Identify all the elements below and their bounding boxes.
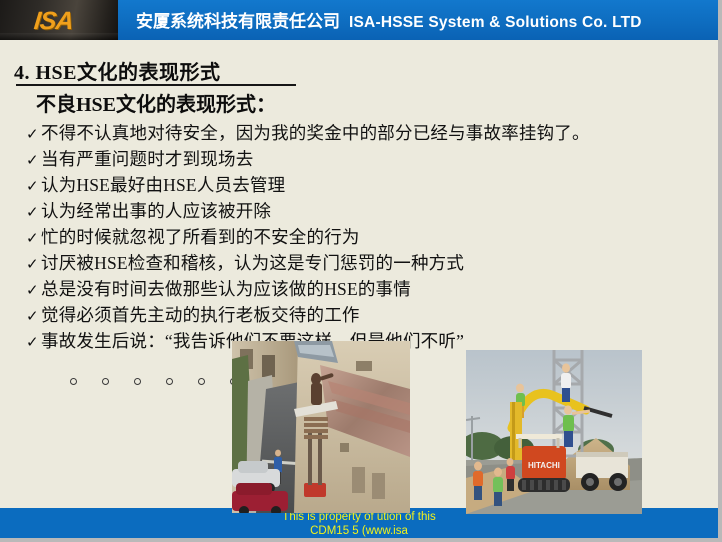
list-item-label: 忙的时候就忽视了所看到的不安全的行为 [41,224,360,249]
list-item: ✓ 忙的时候就忽视了所看到的不安全的行为 [26,224,716,250]
photo-street-unsafe-platform [232,341,410,513]
list-item: ✓ 认为HSE最好由HSE人员去管理 [26,172,716,198]
checkmark-icon: ✓ [26,153,41,168]
checkmark-icon: ✓ [26,309,41,324]
photo-scaffold-image: HITACHI [466,350,642,514]
logo-panel: ISA [0,0,118,40]
checkmark-icon: ✓ [26,257,41,272]
slide-canvas: ISA 安厦系统科技有限责任公司 ISA-HSSE System & Solut… [0,0,722,542]
list-item-label: 不得不认真地对待安全，因为我的奖金中的部分已经与事故率挂钩了。 [41,120,590,145]
header-title-cn: 安厦系统科技有限责任公司 [136,12,340,31]
header-title: 安厦系统科技有限责任公司 ISA-HSSE System & Solutions… [136,7,642,32]
list-item-label: 当有严重问题时才到现场去 [41,146,253,171]
list-item-label: 讨厌被HSE检查和稽核，认为这是专门惩罚的一种方式 [41,250,464,275]
svg-text:HITACHI: HITACHI [528,461,560,470]
circle-bullet-icon [166,378,173,385]
circle-bullet-icon [70,378,77,385]
list-item-label: 觉得必须首先主动的执行老板交待的工作 [41,302,360,327]
footer-line-2: CDM15 5 (www.isa [0,525,718,537]
title-underline [16,84,296,86]
page-title: 4. HSE文化的表现形式 [14,56,221,85]
list-item-label: 认为经常出事的人应该被开除 [41,198,271,223]
checkmark-icon: ✓ [26,283,41,298]
subtitle: 不良HSE文化的表现形式： [36,88,276,117]
photo-street-image [232,341,410,513]
list-item: ✓ 当有严重问题时才到现场去 [26,146,716,172]
list-item: ✓ 讨厌被HSE检查和稽核，认为这是专门惩罚的一种方式 [26,250,716,276]
list-item: ✓ 认为经常出事的人应该被开除 [26,198,716,224]
isa-logo-icon: ISA [32,7,74,36]
list-item-label: 总是没有时间去做那些认为应该做的HSE的事情 [41,276,411,301]
list-item: ✓ 觉得必须首先主动的执行老板交待的工作 [26,302,716,328]
checkmark-icon: ✓ [26,335,41,350]
checkmark-icon: ✓ [26,179,41,194]
bullet-list: ✓ 不得不认真地对待安全，因为我的奖金中的部分已经与事故率挂钩了。 ✓ 当有严重… [26,120,716,354]
checkmark-icon: ✓ [26,205,41,220]
list-item-label: 认为HSE最好由HSE人员去管理 [41,172,285,197]
list-item: ✓ 总是没有时间去做那些认为应该做的HSE的事情 [26,276,716,302]
list-item: ✓ 不得不认真地对待安全，因为我的奖金中的部分已经与事故率挂钩了。 [26,120,716,146]
circle-bullet-icon [134,378,141,385]
slide-header: ISA 安厦系统科技有限责任公司 ISA-HSSE System & Solut… [0,0,718,40]
circle-bullet-icon [198,378,205,385]
header-title-bar: 安厦系统科技有限责任公司 ISA-HSSE System & Solutions… [118,0,718,40]
sub-bullet-dots [70,378,237,385]
header-title-en: ISA-HSSE System & Solutions Co. LTD [349,14,642,31]
checkmark-icon: ✓ [26,127,41,142]
circle-bullet-icon [102,378,109,385]
checkmark-icon: ✓ [26,231,41,246]
photo-scaffold-construction: HITACHI [466,350,642,514]
